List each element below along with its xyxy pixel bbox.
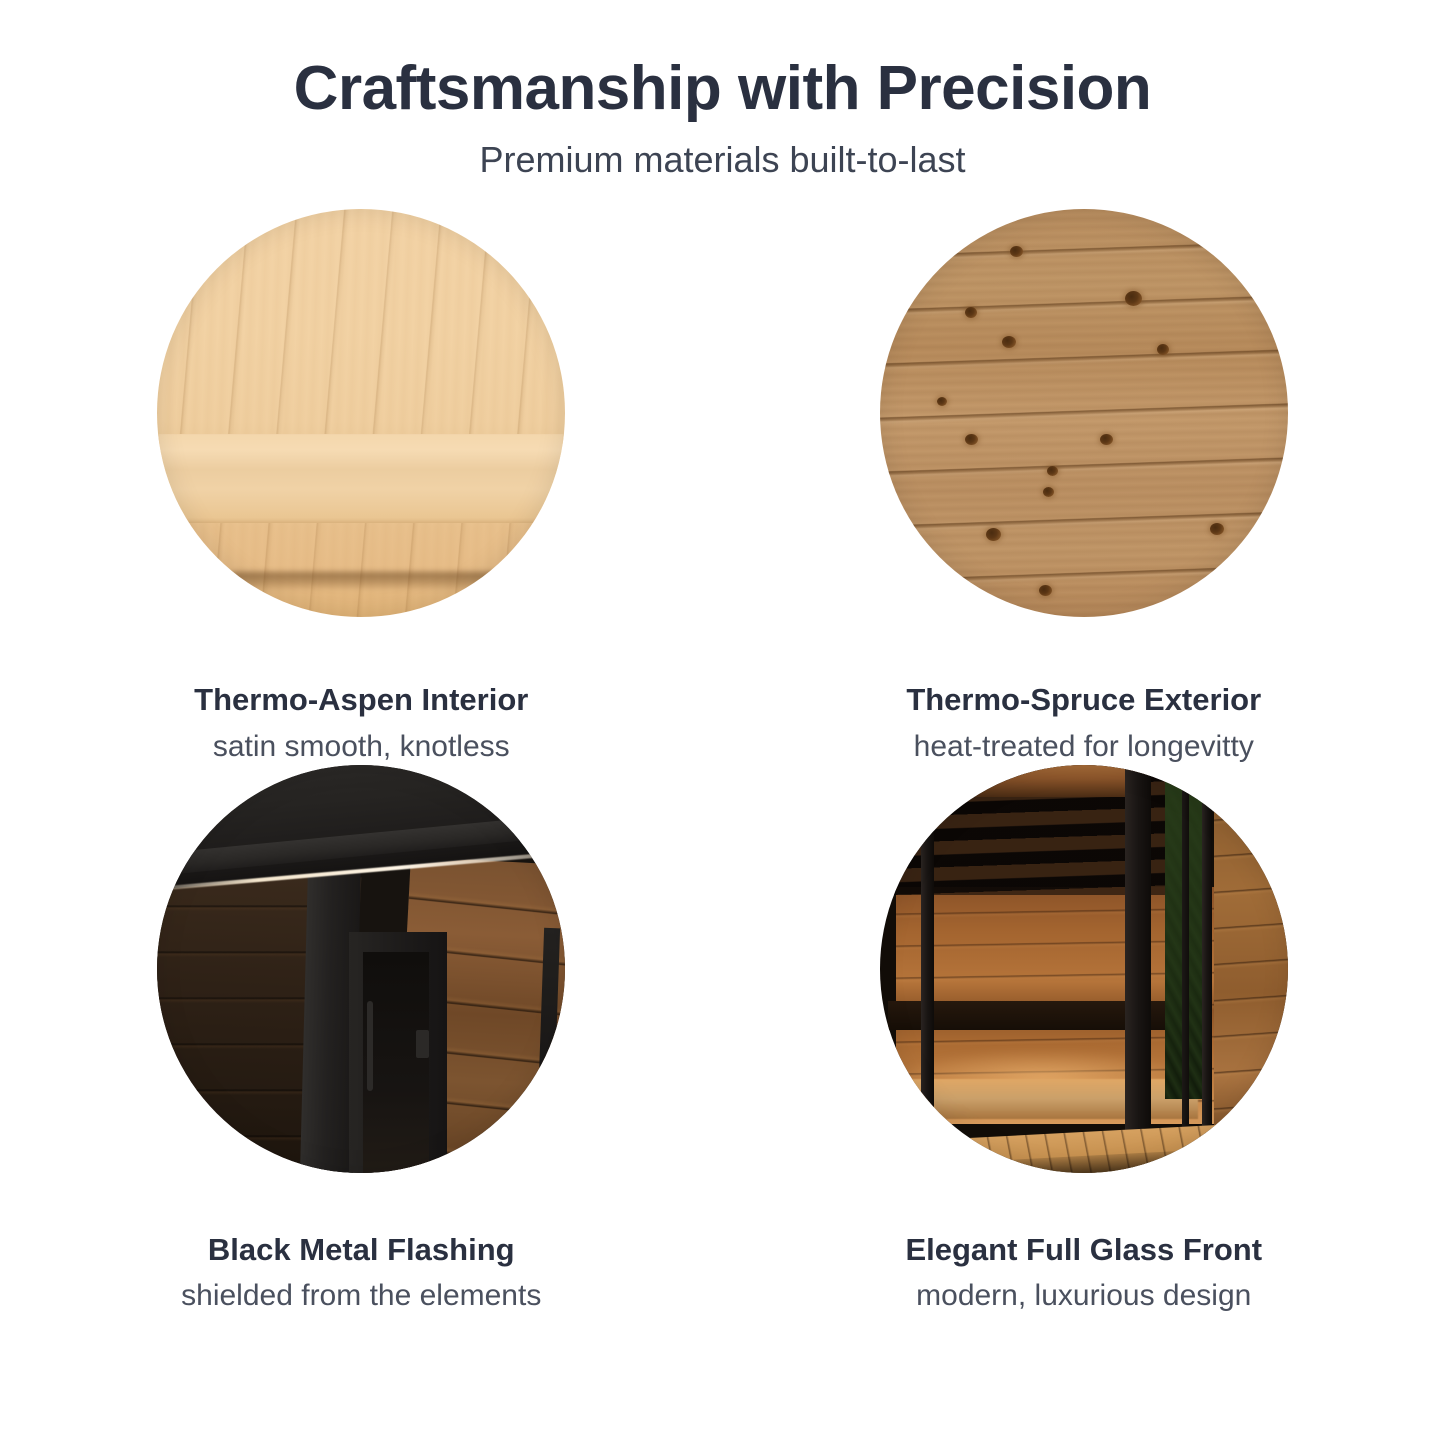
aspen-wood-texture bbox=[157, 209, 565, 617]
building-corner-scene bbox=[157, 765, 565, 1173]
caption-subtitle: shielded from the elements bbox=[181, 1279, 541, 1314]
wood-knot-icon bbox=[965, 307, 977, 318]
door-handle bbox=[367, 1001, 373, 1091]
wood-knot-icon bbox=[986, 528, 1001, 541]
caption-title: Thermo-Spruce Exterior bbox=[906, 683, 1261, 718]
door-opening bbox=[363, 952, 428, 1172]
interior-bench bbox=[904, 1079, 1198, 1120]
wood-knot-icon bbox=[937, 397, 947, 406]
caption-elegant-full-glass-front: Elegant Full Glass Front modern, luxurio… bbox=[905, 1233, 1262, 1314]
glass-door-mullion bbox=[1182, 765, 1189, 1173]
caption-title: Thermo-Aspen Interior bbox=[194, 683, 528, 718]
exterior-wood-wall-right bbox=[1214, 789, 1287, 1140]
caption-subtitle: heat-treated for longevitty bbox=[906, 730, 1261, 765]
feature-card-thermo-spruce-exterior: Thermo-Spruce Exterior heat-treated for … bbox=[723, 209, 1445, 764]
spruce-exterior-photo bbox=[880, 209, 1288, 617]
feature-card-elegant-full-glass-front: Elegant Full Glass Front modern, luxurio… bbox=[723, 765, 1445, 1314]
wood-knot-icon bbox=[1125, 291, 1142, 306]
door-lock-plate bbox=[416, 1030, 429, 1059]
wood-knot-icon bbox=[1047, 466, 1058, 476]
page-subtitle: Premium materials built-to-last bbox=[0, 140, 1445, 180]
black-metal-flashing-photo bbox=[157, 765, 565, 1173]
glass-door-mullion bbox=[921, 765, 934, 1173]
wood-knot-icon bbox=[1043, 487, 1054, 497]
caption-title: Elegant Full Glass Front bbox=[905, 1233, 1262, 1268]
wood-knot-icon bbox=[965, 434, 978, 445]
ceiling-top-board bbox=[929, 765, 1149, 798]
sauna-interior-scene bbox=[880, 765, 1288, 1173]
wood-knot-icon bbox=[1039, 585, 1052, 596]
caption-thermo-spruce-exterior: Thermo-Spruce Exterior heat-treated for … bbox=[906, 683, 1261, 764]
wood-knot-icon bbox=[1100, 434, 1113, 445]
caption-thermo-aspen-interior: Thermo-Aspen Interior satin smooth, knot… bbox=[194, 683, 528, 764]
glass-door-mullion bbox=[1125, 765, 1152, 1173]
glass-front-photo bbox=[880, 765, 1288, 1173]
caption-black-metal-flashing: Black Metal Flashing shielded from the e… bbox=[181, 1233, 541, 1314]
aspen-interior-photo bbox=[157, 209, 565, 617]
aspen-bench-ledge bbox=[157, 434, 565, 524]
spruce-wood-texture bbox=[880, 209, 1288, 617]
caption-subtitle: modern, luxurious design bbox=[905, 1279, 1262, 1314]
page-header: Craftsmanship with Precision Premium mat… bbox=[0, 0, 1445, 179]
feature-card-thermo-aspen-interior: Thermo-Aspen Interior satin smooth, knot… bbox=[0, 209, 723, 764]
features-grid: Thermo-Aspen Interior satin smooth, knot… bbox=[0, 209, 1445, 1313]
wood-knot-icon bbox=[1010, 246, 1023, 257]
glass-door-mullion bbox=[1202, 765, 1212, 1173]
feature-showcase-page: Craftsmanship with Precision Premium mat… bbox=[0, 0, 1445, 1445]
wood-knot-icon bbox=[1210, 523, 1224, 535]
page-title: Craftsmanship with Precision bbox=[0, 56, 1445, 122]
caption-subtitle: satin smooth, knotless bbox=[194, 730, 528, 765]
wood-knot-icon bbox=[1157, 344, 1169, 355]
wood-knot-icon bbox=[1002, 336, 1016, 348]
feature-card-black-metal-flashing: Black Metal Flashing shielded from the e… bbox=[0, 765, 723, 1314]
caption-title: Black Metal Flashing bbox=[181, 1233, 541, 1268]
interior-dark-beam bbox=[888, 1001, 1206, 1030]
